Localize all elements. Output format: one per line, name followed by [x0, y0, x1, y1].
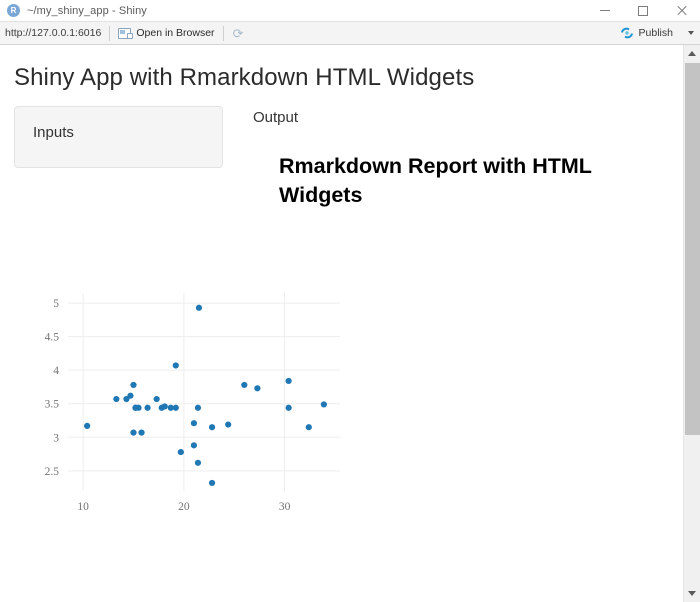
svg-text:10: 10 [77, 501, 89, 513]
maximize-icon [638, 6, 648, 16]
open-in-browser-button[interactable]: Open in Browser [111, 22, 221, 44]
minimize-button[interactable] [586, 0, 624, 21]
svg-text:5: 5 [53, 298, 59, 310]
y-axis-tick-labels: 2.533.544.55 [45, 298, 60, 478]
toolbar-separator-2 [223, 26, 224, 41]
close-button[interactable] [662, 0, 700, 21]
refresh-icon: ⟳ [232, 27, 245, 40]
shiny-app-body: Shiny App with Rmarkdown HTML Widgets In… [0, 45, 700, 602]
open-in-browser-icon [118, 28, 131, 39]
sidebar-panel: Inputs [14, 106, 223, 168]
minimize-icon [600, 10, 610, 11]
report-title: Rmarkdown Report with HTML Widgets [279, 152, 651, 209]
main-panel: Output Rmarkdown Report with HTML Widget… [223, 106, 658, 209]
close-icon [676, 5, 687, 16]
toolbar-separator-1 [109, 26, 110, 41]
scatter-plot-svg[interactable]: 102030 2.533.544.55 [20, 281, 350, 521]
y-gridlines [68, 303, 340, 471]
window-controls [586, 0, 700, 21]
publish-chevron-down-icon[interactable] [688, 31, 694, 35]
svg-text:3.5: 3.5 [45, 399, 60, 411]
refresh-button[interactable]: ⟳ [225, 22, 252, 44]
app-url-text[interactable]: http://127.0.0.1:6016 [5, 27, 108, 39]
svg-text:20: 20 [178, 501, 190, 513]
x-axis-tick-labels: 102030 [77, 501, 290, 513]
scroll-down-arrow[interactable] [684, 585, 700, 602]
window-title: ~/my_shiny_app - Shiny [27, 5, 147, 17]
svg-text:4: 4 [53, 365, 59, 377]
x-gridlines [83, 293, 284, 491]
publish-icon [620, 26, 634, 40]
scroll-up-arrow[interactable] [684, 45, 700, 62]
publish-label: Publish [639, 27, 673, 39]
inputs-well: Inputs [14, 106, 223, 168]
vertical-scrollbar[interactable] [683, 45, 700, 602]
shiny-viewer-window: R ~/my_shiny_app - Shiny http://127.0.0.… [0, 0, 700, 602]
output-label: Output [253, 109, 658, 126]
viewer-toolbar: http://127.0.0.1:6016 Open in Browser ⟳ … [0, 22, 700, 45]
svg-text:2.5: 2.5 [45, 466, 60, 478]
page-title: Shiny App with Rmarkdown HTML Widgets [14, 64, 658, 92]
app-layout-row: Inputs Output Rmarkdown Report with HTML… [14, 106, 658, 209]
r-app-icon: R [7, 4, 20, 17]
publish-button[interactable]: Publish [613, 22, 680, 44]
svg-text:4.5: 4.5 [45, 332, 60, 344]
window-titlebar: R ~/my_shiny_app - Shiny [0, 0, 700, 22]
svg-text:30: 30 [279, 501, 291, 513]
scroll-thumb[interactable] [685, 63, 700, 435]
maximize-button[interactable] [624, 0, 662, 21]
svg-text:3: 3 [53, 432, 59, 444]
inputs-heading: Inputs [33, 124, 204, 141]
chevron-down-icon [688, 591, 696, 596]
rmarkdown-report: Rmarkdown Report with HTML Widgets [253, 152, 658, 209]
toolbar-right-group: Publish [613, 22, 696, 44]
chevron-up-icon [688, 51, 696, 56]
open-in-browser-label: Open in Browser [136, 27, 214, 39]
scatter-plot-widget[interactable]: 102030 2.533.544.55 [20, 281, 658, 521]
app-page-container: Shiny App with Rmarkdown HTML Widgets In… [0, 45, 672, 521]
data-points[interactable] [84, 305, 327, 486]
